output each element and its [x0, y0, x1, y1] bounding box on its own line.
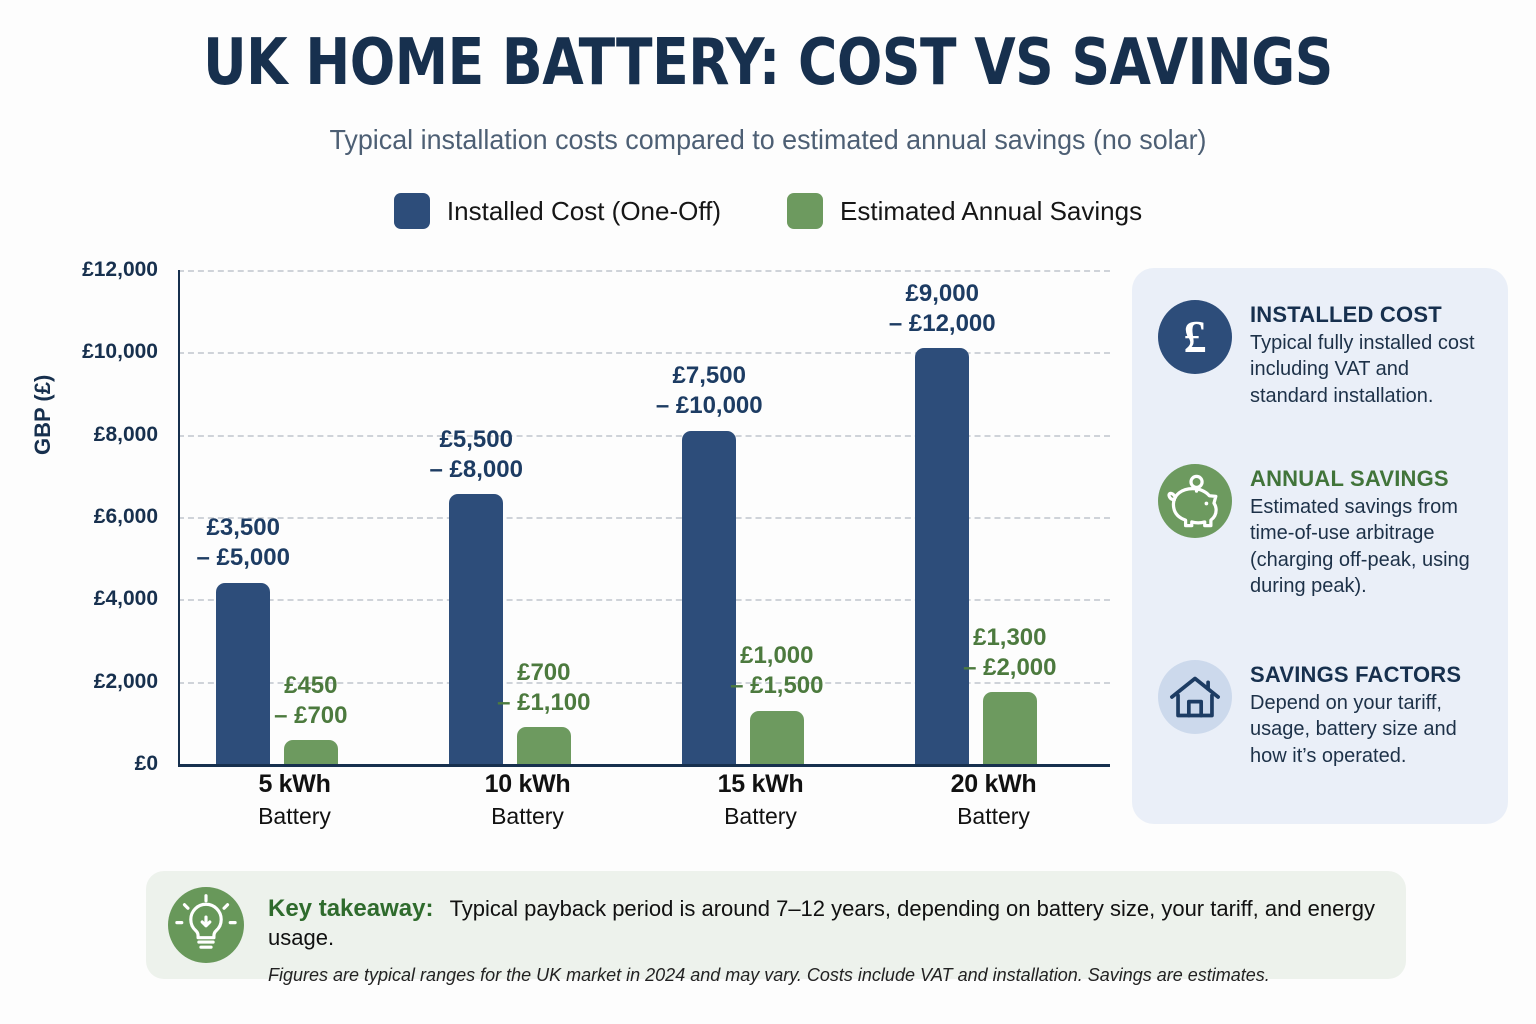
bar-savings-15kwh[interactable]: [750, 711, 804, 765]
bar-label-line1: £1,000: [693, 641, 861, 672]
bar-label-cost-20kwh: £9,000 – £12,000: [858, 279, 1026, 340]
bar-label-savings-10kwh: £700 – £1,100: [460, 658, 628, 719]
bar-label-line2: – £12,000: [858, 309, 1026, 340]
page-subtitle: Typical installation costs compared to e…: [31, 124, 1506, 156]
legend-swatch-savings-icon: [787, 193, 823, 229]
x-label-sub: Battery: [877, 803, 1110, 830]
house-icon: [1158, 660, 1232, 734]
bar-label-line1: £9,000: [858, 279, 1026, 310]
y-tick-label: £12,000: [0, 258, 158, 282]
side-body: Depend on your tariff, usage, battery si…: [1250, 690, 1488, 769]
bar-label-line1: £700: [460, 658, 628, 689]
y-tick-label: £2,000: [0, 670, 158, 694]
bar-label-line1: £3,500: [159, 513, 327, 544]
pound-icon: £: [1158, 300, 1232, 374]
bar-label-savings-15kwh: £1,000 – £1,500: [693, 641, 861, 702]
x-label-value: 10 kWh: [411, 770, 644, 799]
y-tick-label: £10,000: [0, 340, 158, 364]
side-heading: INSTALLED COST: [1250, 302, 1488, 328]
bar-group-5kwh: £3,500 – £5,000 £450 – £700: [178, 270, 411, 764]
takeaway-footnote: Figures are typical ranges for the UK ma…: [268, 965, 1378, 986]
side-item-savings-factors: SAVINGS FACTORS Depend on your tariff, u…: [1158, 660, 1488, 769]
legend-swatch-cost-icon: [394, 193, 430, 229]
x-axis-line: [178, 764, 1110, 767]
x-label-15kwh: 15 kWh Battery: [644, 770, 877, 830]
y-tick-label: £6,000: [0, 505, 158, 529]
x-label-10kwh: 10 kWh Battery: [411, 770, 644, 830]
x-axis-labels: 5 kWh Battery 10 kWh Battery 15 kWh Batt…: [178, 770, 1110, 830]
bar-savings-10kwh[interactable]: [517, 727, 571, 764]
bar-group-15kwh: £7,500 – £10,000 £1,000 – £1,500: [644, 270, 877, 764]
key-takeaway-box: Key takeaway: Typical payback period is …: [146, 871, 1406, 979]
side-item-installed-cost: £ INSTALLED COST Typical fully installed…: [1158, 300, 1488, 409]
bar-label-cost-10kwh: £5,500 – £8,000: [392, 425, 560, 486]
bar-label-line2: – £8,000: [392, 455, 560, 486]
infographic-page: UK HOME BATTERY: COST VS SAVINGS Typical…: [0, 0, 1536, 1024]
x-label-sub: Battery: [178, 803, 411, 830]
legend-label-savings: Estimated Annual Savings: [840, 196, 1142, 227]
x-label-sub: Battery: [411, 803, 644, 830]
bar-label-savings-20kwh: £1,300 – £2,000: [926, 623, 1094, 684]
bar-label-line1: £1,300: [926, 623, 1094, 654]
y-tick-label: £0: [0, 752, 158, 776]
bar-label-savings-5kwh: £450 – £700: [227, 671, 395, 732]
bar-label-line2: – £1,500: [693, 671, 861, 702]
x-label-value: 20 kWh: [877, 770, 1110, 799]
bar-cost-10kwh[interactable]: [449, 494, 503, 764]
bar-label-cost-15kwh: £7,500 – £10,000: [625, 361, 793, 422]
y-axis-ticks: £12,000 £10,000 £8,000 £6,000 £4,000 £2,…: [0, 270, 170, 766]
bar-cost-20kwh[interactable]: [915, 348, 969, 764]
takeaway-text: Typical payback period is around 7–12 ye…: [268, 896, 1375, 950]
legend-item-annual-savings: Estimated Annual Savings: [787, 193, 1142, 229]
bar-savings-5kwh[interactable]: [284, 740, 338, 764]
takeaway-key-label: Key takeaway:: [268, 895, 433, 922]
legend-label-cost: Installed Cost (One-Off): [447, 196, 721, 227]
bar-label-line2: – £700: [227, 701, 395, 732]
bar-label-line1: £7,500: [625, 361, 793, 392]
bar-savings-20kwh[interactable]: [983, 692, 1037, 764]
bar-label-line2: – £5,000: [159, 543, 327, 574]
bar-label-line2: – £10,000: [625, 391, 793, 422]
lightbulb-icon: [168, 887, 244, 963]
side-body: Typical fully installed cost including V…: [1250, 330, 1488, 409]
x-label-value: 5 kWh: [178, 770, 411, 799]
x-label-sub: Battery: [644, 803, 877, 830]
svg-text:£: £: [1184, 311, 1207, 362]
takeaway-line: Key takeaway: Typical payback period is …: [268, 893, 1378, 953]
piggy-bank-icon: [1158, 464, 1232, 538]
x-label-value: 15 kWh: [644, 770, 877, 799]
bar-label-line2: – £2,000: [926, 653, 1094, 684]
y-tick-label: £8,000: [0, 423, 158, 447]
bar-cost-15kwh[interactable]: [682, 431, 736, 764]
info-side-panel: £ INSTALLED COST Typical fully installed…: [1132, 268, 1508, 824]
x-label-20kwh: 20 kWh Battery: [877, 770, 1110, 830]
bar-groups: £3,500 – £5,000 £450 – £700 £5,500 – £8,…: [178, 270, 1110, 764]
bar-chart-plot-area: £3,500 – £5,000 £450 – £700 £5,500 – £8,…: [178, 270, 1110, 765]
bar-label-line2: – £1,100: [460, 688, 628, 719]
bar-group-20kwh: £9,000 – £12,000 £1,300 – £2,000: [877, 270, 1110, 764]
side-body: Estimated savings from time-of-use arbit…: [1250, 494, 1488, 600]
side-item-annual-savings: ANNUAL SAVINGS Estimated savings from ti…: [1158, 464, 1488, 600]
legend-item-installed-cost: Installed Cost (One-Off): [394, 193, 721, 229]
x-label-5kwh: 5 kWh Battery: [178, 770, 411, 830]
page-title: UK HOME BATTERY: COST VS SAVINGS: [54, 26, 1482, 100]
y-tick-label: £4,000: [0, 587, 158, 611]
chart-legend: Installed Cost (One-Off) Estimated Annua…: [0, 193, 1536, 229]
side-heading: SAVINGS FACTORS: [1250, 662, 1488, 688]
bar-group-10kwh: £5,500 – £8,000 £700 – £1,100: [411, 270, 644, 764]
bar-label-line1: £450: [227, 671, 395, 702]
side-heading: ANNUAL SAVINGS: [1250, 466, 1488, 492]
bar-label-cost-5kwh: £3,500 – £5,000: [159, 513, 327, 574]
bar-label-line1: £5,500: [392, 425, 560, 456]
